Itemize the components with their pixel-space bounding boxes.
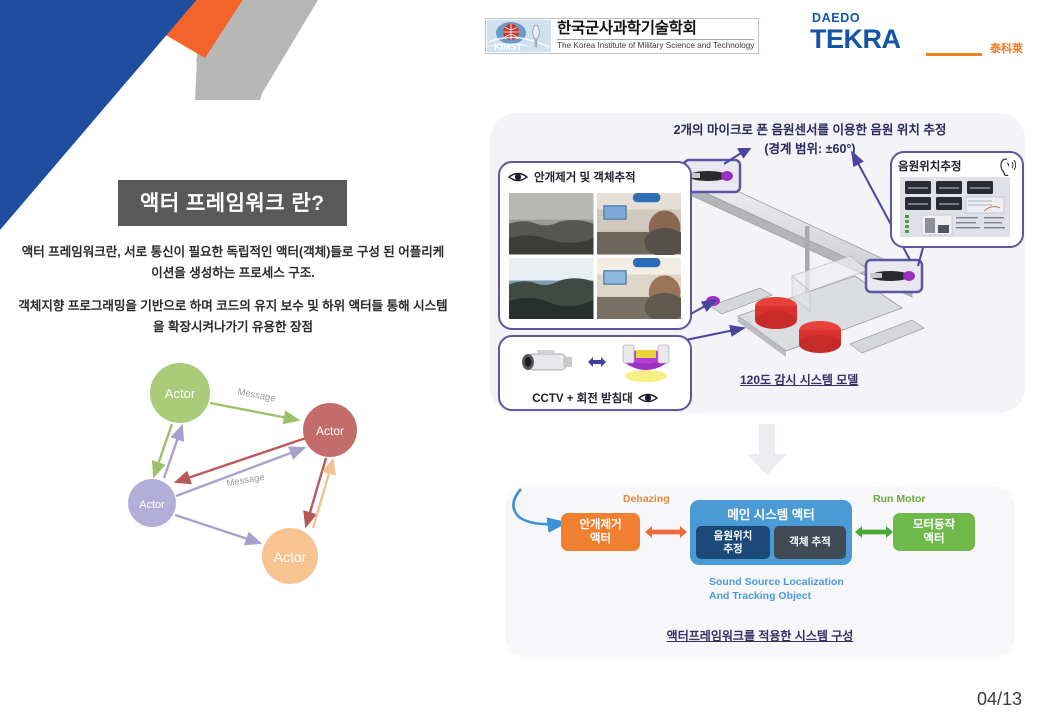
thumbnail-office-scene <box>597 193 682 255</box>
left-content-column: 액터 프레임워크 란? 액터 프레임워크란, 서로 통신이 필요한 독립적인 액… <box>0 0 470 720</box>
sub-track-label: 객체 추적 <box>789 536 831 549</box>
kimst-korean-name: 한국군사과학기술학회 <box>557 21 754 37</box>
downward-connector-arrow <box>745 424 789 476</box>
right-arm <box>850 320 924 353</box>
page-title: 액터 프레임워크 란? <box>118 180 347 226</box>
dehazing-box-label-row: 안개제거 및 객체추적 <box>508 169 636 185</box>
motor-actor-label: 모터동작 액터 <box>913 518 955 547</box>
cctv-illustration-row <box>500 341 690 383</box>
dehazing-thumbnail-grid <box>509 193 681 319</box>
main-system-actor-box: 메인 시스템 액터 음원위치 추정 객체 추적 <box>690 500 852 565</box>
sub-actor-object-tracking: 객체 추적 <box>774 526 846 559</box>
thumbnail-hazy-sea <box>509 193 594 255</box>
cctv-pantilt-box: CCTV + 회전 받침대 <box>498 335 692 411</box>
bidirectional-arrow-icon <box>587 353 607 371</box>
mic-callout-lower <box>866 260 922 292</box>
daedo-tekra-logo: DAEDO TEKRA 泰科萊 <box>810 12 1020 60</box>
sound-box-label: 음원위치추정 <box>898 158 961 174</box>
actor-node-label: Actor <box>316 424 344 438</box>
sound-localization-box: 음원위치추정 <box>890 151 1024 248</box>
edge-green-to-red <box>210 403 298 420</box>
hardware-overview-panel: 2개의 마이크로 폰 음원센서를 이용한 음원 위치 추정 (경계 범위: ±6… <box>490 113 1025 413</box>
logo-row: KIMST 한국군사과학기술학회 The Korea Institute of … <box>485 8 1035 63</box>
daedo-underline-bar <box>926 53 982 56</box>
software-screenshot <box>900 177 1010 237</box>
thumbnail-dehazed-sea <box>509 258 594 320</box>
main-actor-title: 메인 시스템 액터 <box>690 504 852 523</box>
daedo-chinese-text: 泰科萊 <box>990 40 1023 56</box>
sub-sound-label: 음원위치 추정 <box>714 530 753 555</box>
dehazing-tracking-box: 안개제거 및 객체추적 <box>498 161 692 330</box>
red-cylinder-1-bottom <box>755 311 797 329</box>
dehaze-bidirectional-arrow <box>643 523 689 541</box>
dehazing-box-label: 안개제거 및 객체추적 <box>534 169 636 185</box>
daedo-top-text: DAEDO <box>812 12 1020 25</box>
dehaze-actor-label: 안개제거 액터 <box>579 518 621 547</box>
body-paragraph-1: 액터 프레임워크란, 서로 통신이 필요한 독립적인 액터(객체)들로 구성 된… <box>18 242 448 283</box>
eye-icon <box>638 392 658 404</box>
dehaze-actor-box: 안개제거 액터 <box>561 513 640 551</box>
actor-node-label: Actor <box>139 499 165 511</box>
cctv-camera-icon <box>515 346 577 378</box>
sound-box-label-row: 음원위치추정 <box>898 156 1016 176</box>
motor-actor-box: 모터동작 액터 <box>893 513 975 551</box>
actor-node-label: Actor <box>274 549 307 565</box>
daedo-main-text: TEKRA <box>810 26 1020 53</box>
bottom-panel-caption: 액터프레임워크를 적용한 시스템 구성 <box>505 627 1015 644</box>
actor-message-graph: Actor Actor Actor Actor Message Message <box>110 358 400 603</box>
kimst-globe-icon: KIMST <box>487 20 551 52</box>
cctv-box-label-row: CCTV + 회전 받침대 <box>500 390 690 406</box>
svg-text:KIMST: KIMST <box>494 42 523 52</box>
kimst-logo: KIMST 한국군사과학기술학회 The Korea Institute of … <box>485 18 759 54</box>
label-run-motor: Run Motor <box>873 493 926 505</box>
edge-label-message-1: Message <box>237 386 277 404</box>
red-cylinder-2-bottom <box>799 335 841 353</box>
kimst-english-name: The Korea Institute of Military Science … <box>557 39 754 51</box>
sub-actor-sound-localization: 음원위치 추정 <box>696 526 770 559</box>
edge-purple-to-red <box>176 448 304 496</box>
caption-line-1: 2개의 마이크로 폰 음원센서를 이용한 음원 위치 추정 <box>610 121 1010 140</box>
model-caption: 120도 감시 시스템 모델 <box>740 371 858 388</box>
page-number: 04/13 <box>977 689 1022 710</box>
edge-purple-to-green <box>164 426 182 478</box>
edge-green-to-purple <box>154 424 172 476</box>
label-dehazing: Dehazing <box>623 493 670 505</box>
pan-tilt-mount-icon <box>617 341 675 383</box>
ear-icon <box>996 156 1016 176</box>
kimst-text-block: 한국군사과학기술학회 The Korea Institute of Milita… <box>557 21 754 50</box>
motor-bidirectional-arrow <box>853 523 895 541</box>
actor-system-architecture-panel: Dehazing Run Motor 안개제거 액터 메인 시스템 액터 음원위… <box>505 487 1015 657</box>
mic-callout-upper <box>684 160 740 192</box>
sound-source-localization-text: Sound Source Localization And Tracking O… <box>709 575 844 603</box>
body-paragraph-2: 객체지향 프로그래밍을 기반으로 하며 코드의 유지 보수 및 하위 액터들 통… <box>18 296 448 337</box>
thumbnail-office-dehazed <box>597 258 682 320</box>
edge-purple-to-orange <box>175 515 260 543</box>
actor-node-label: Actor <box>165 386 196 401</box>
cctv-box-label: CCTV + 회전 받침대 <box>532 390 633 406</box>
eye-icon <box>508 171 528 183</box>
